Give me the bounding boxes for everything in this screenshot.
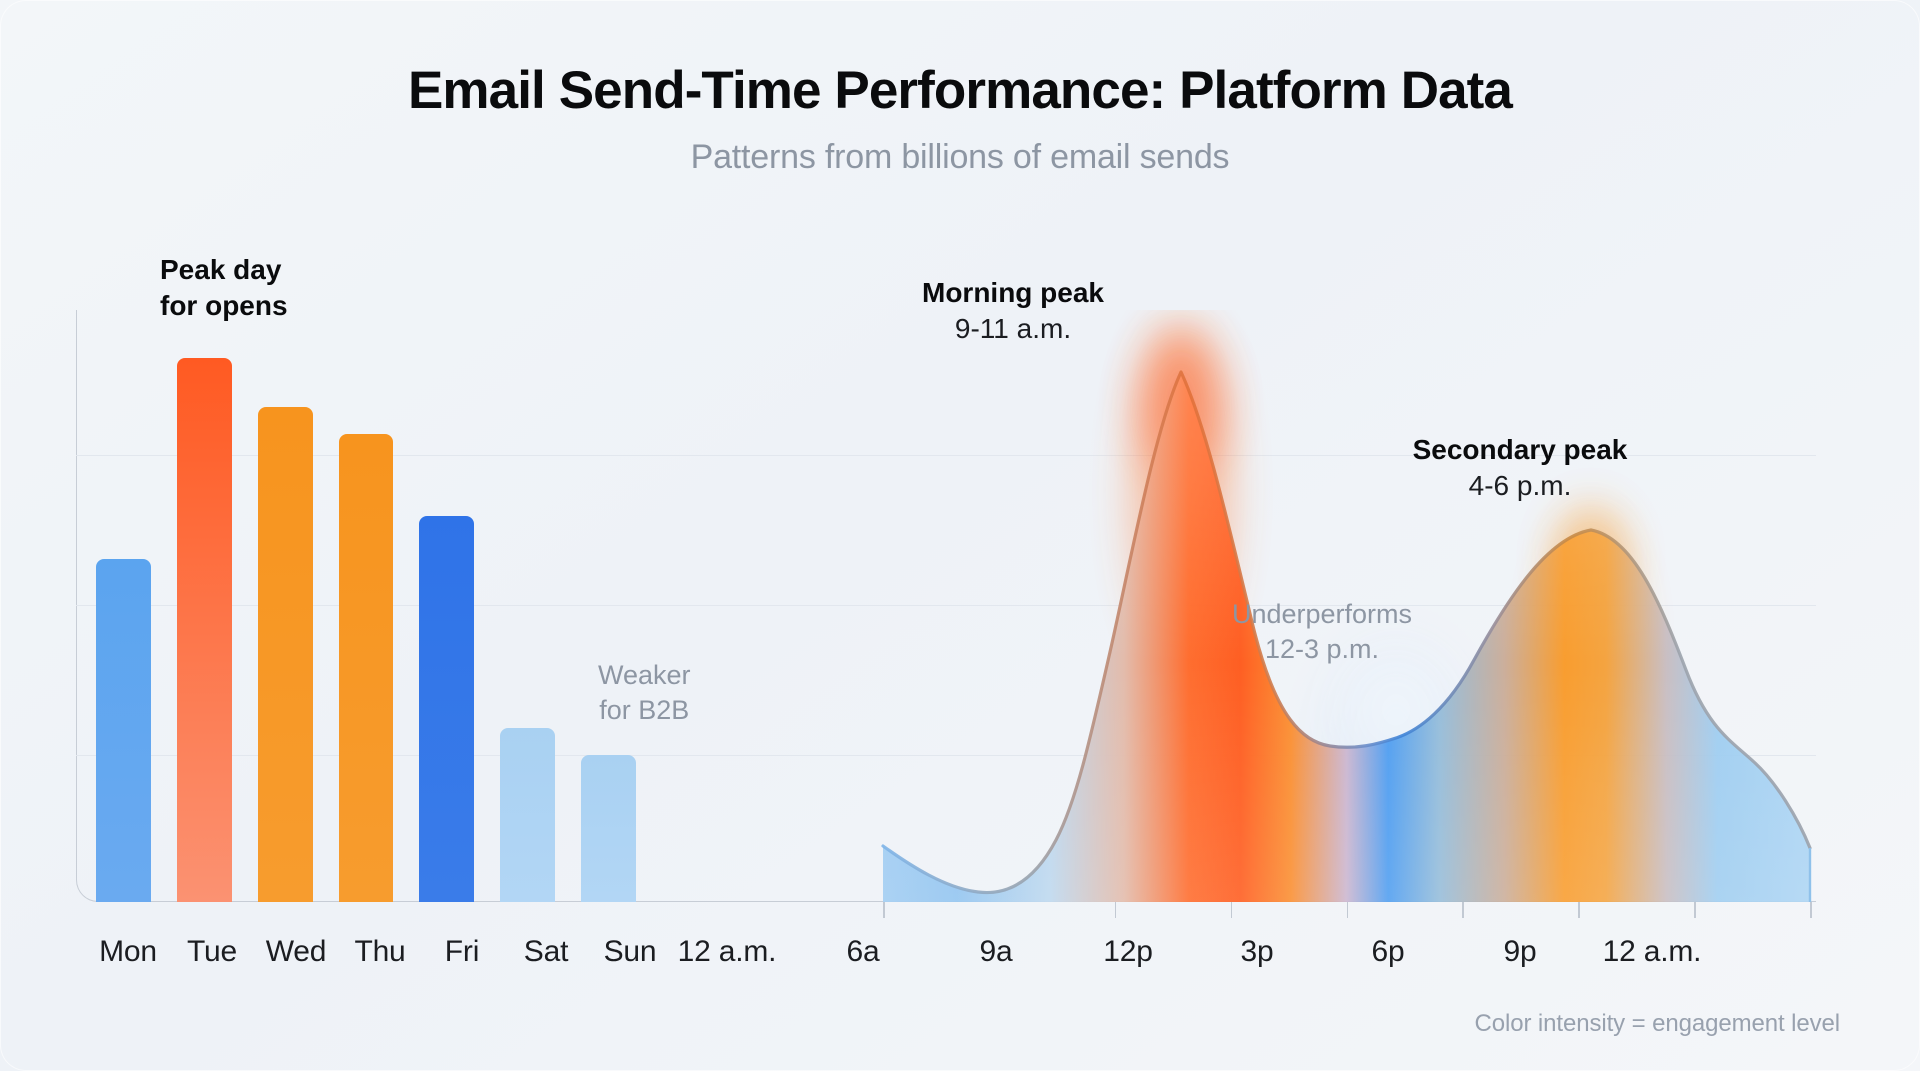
annotation-morning-peak-line1: Morning peak [922, 275, 1104, 311]
tick-9a [1231, 902, 1233, 918]
annotation-secondary-peak: Secondary peak 4-6 p.m. [1413, 432, 1628, 505]
annotation-peak-day: Peak day for opens [160, 252, 288, 325]
x-axis-label-13: 9p [1504, 935, 1537, 969]
bar-tue[interactable] [177, 358, 232, 902]
tick-3p [1462, 902, 1464, 918]
plot-area [76, 310, 1816, 902]
page-subtitle: Patterns from billions of email sends [0, 138, 1920, 177]
annotation-underperforms-line1: Underperforms [1232, 597, 1412, 632]
bar-sat[interactable] [500, 728, 555, 902]
x-axis-label-11: 3p [1241, 935, 1274, 969]
annotation-morning-peak-line2: 9-11 a.m. [922, 311, 1104, 347]
annotation-underperforms: Underperforms 12-3 p.m. [1232, 597, 1412, 667]
annotation-peak-day-line2: for opens [160, 288, 288, 324]
x-axis-labels: MonTueWedThuFriSatSun12 a.m.6a9a12p3p6p9… [0, 935, 1920, 979]
bar-wed[interactable] [258, 407, 313, 902]
bar-mon[interactable] [96, 559, 151, 902]
chart-canvas: Email Send-Time Performance: Platform Da… [0, 0, 1920, 1071]
x-axis-label-7: 12 a.m. [678, 935, 777, 969]
tick-12p [1347, 902, 1349, 918]
annotation-weaker-b2b-line1: Weaker [598, 658, 691, 693]
page-title: Email Send-Time Performance: Platform Da… [0, 62, 1920, 120]
annotation-secondary-peak-line1: Secondary peak [1413, 432, 1628, 468]
time-axis-ticks [658, 902, 1816, 918]
x-axis-label-3: Thu [354, 935, 405, 969]
x-axis-label-14: 12 a.m. [1603, 935, 1702, 969]
bar-fri[interactable] [419, 516, 474, 902]
x-axis-label-1: Tue [187, 935, 237, 969]
x-axis-label-5: Sat [524, 935, 568, 969]
x-axis-label-4: Fri [445, 935, 479, 969]
x-axis-label-12: 6p [1372, 935, 1405, 969]
annotation-weaker-b2b: Weaker for B2B [598, 658, 691, 728]
bar-series [96, 310, 636, 902]
x-axis-label-6: Sun [604, 935, 657, 969]
chart-header: Email Send-Time Performance: Platform Da… [0, 0, 1920, 177]
tick-6a [1115, 902, 1117, 918]
tick-12-a-m- [1810, 902, 1812, 918]
x-axis-label-8: 6a [847, 935, 880, 969]
x-axis-label-9: 9a [980, 935, 1013, 969]
tick-9p [1694, 902, 1696, 918]
x-axis-label-10: 12p [1103, 935, 1152, 969]
x-axis-label-0: Mon [99, 935, 157, 969]
tick-12-a-m- [883, 902, 885, 918]
bar-thu[interactable] [339, 434, 394, 902]
tick-6p [1578, 902, 1580, 918]
bar-sun[interactable] [581, 755, 636, 902]
annotation-morning-peak: Morning peak 9-11 a.m. [922, 275, 1104, 348]
annotation-underperforms-line2: 12-3 p.m. [1232, 632, 1412, 667]
annotation-peak-day-line1: Peak day [160, 252, 288, 288]
x-axis-label-2: Wed [266, 935, 327, 969]
annotation-weaker-b2b-line2: for B2B [598, 693, 691, 728]
annotation-secondary-peak-line2: 4-6 p.m. [1413, 468, 1628, 504]
color-legend-note: Color intensity = engagement level [1475, 1010, 1840, 1038]
